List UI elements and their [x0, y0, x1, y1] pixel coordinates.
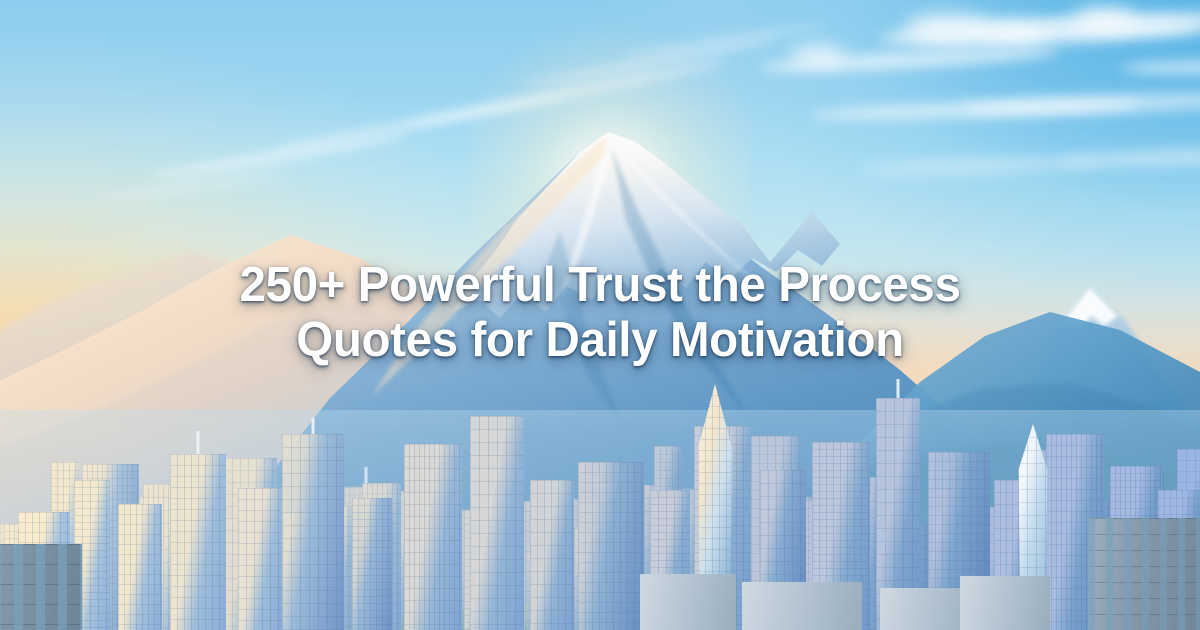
window-grid — [282, 434, 344, 630]
low-rise-block — [640, 574, 736, 630]
window-grid — [530, 480, 574, 630]
title-line-2: Quotes for Daily Motivation — [296, 313, 903, 367]
window-grid — [404, 444, 462, 630]
window-grid — [238, 488, 284, 630]
building — [530, 480, 574, 630]
banner-image: 250+ Powerful Trust the Process Quotes f… — [0, 0, 1200, 630]
window-grid — [1088, 518, 1200, 630]
window-grid — [118, 504, 162, 630]
title-line-1: 250+ Powerful Trust the Process — [239, 258, 960, 312]
antenna — [897, 379, 900, 398]
foreground-slab-building — [0, 544, 82, 630]
building — [352, 498, 392, 630]
building — [282, 434, 344, 630]
building — [118, 504, 162, 630]
building — [470, 416, 524, 630]
window-grid — [0, 544, 82, 630]
low-rise-block — [742, 582, 862, 630]
window-grid — [352, 498, 392, 630]
foreground-slab-building-right — [1088, 518, 1200, 630]
building — [238, 488, 284, 630]
building — [578, 462, 644, 630]
city-icon — [0, 330, 1200, 630]
low-rise-block — [960, 576, 1050, 630]
window-grid — [578, 462, 644, 630]
window-grid — [470, 416, 524, 630]
building — [170, 454, 226, 630]
antenna — [197, 431, 200, 454]
antenna — [312, 418, 315, 434]
window-grid — [170, 454, 226, 630]
page-title: 250+ Powerful Trust the Process Quotes f… — [202, 258, 997, 368]
building — [404, 444, 462, 630]
